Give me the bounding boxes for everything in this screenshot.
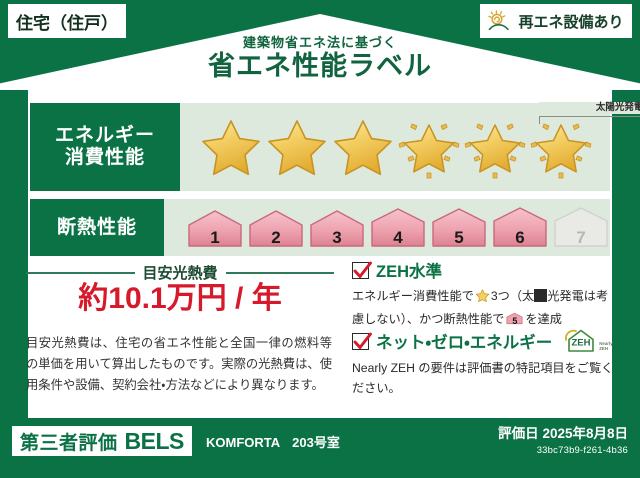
star-icon [330, 114, 396, 180]
bels-third-party-label: 第三者評価 [20, 428, 118, 455]
insulation-level-house: 6 [491, 207, 549, 249]
utility-cost-value: 約10.1万円 / 年 [26, 282, 334, 315]
insulation-level-inline-icon: 5 [506, 311, 523, 326]
sun-icon [488, 9, 514, 33]
energy-performance-label: 住宅（住戸） 再エネ設備あり 建築物省エネ法に基づく 省エネ性能ラベル [0, 0, 640, 478]
energy-caption-line1: エネルギー [55, 125, 155, 147]
bels-logo: 第三者評価 BELS [12, 426, 192, 456]
net-zero-energy-title: ネット・ゼロ・エネルギー [376, 329, 552, 353]
energy-stars-panel: 太陽光発電(自家消費)分 [180, 103, 610, 191]
zeh-badge-sub2: ZEH [599, 347, 612, 351]
header-subtitle: 建築物省エネ法に基づく [0, 36, 640, 49]
room-number: 203号室 [292, 432, 340, 451]
star-icon [264, 114, 330, 180]
insulation-level-number: 5 [430, 229, 488, 246]
insulation-level-number: 1 [186, 229, 244, 246]
star-icon-solar [528, 114, 594, 180]
zeh-standard-block: ZEH水準 エネルギー消費性能で3つ（太光発電は考慮しない）、かつ断熱性能で5を… [352, 258, 614, 330]
evaluation-date-label: 評価日 [498, 426, 539, 441]
insulation-caption-line1: 断熱性能 [57, 217, 137, 239]
svg-text:ZEH: ZEH [572, 338, 591, 349]
insulation-level-house: 1 [186, 207, 244, 249]
label-header: 建築物省エネ法に基づく 省エネ性能ラベル [0, 36, 640, 80]
zeh-badge-icon: ZEH Nearly ZEH [564, 328, 612, 354]
building-type-label: 住宅（住戸） [16, 9, 118, 34]
energy-star-rating [198, 114, 594, 180]
utility-cost-heading: 目安光熱費 [26, 262, 334, 283]
evaluation-info: 評価日 2025年8月8日 33bc73b9-f261-4b36 [498, 426, 628, 457]
insulation-level-house-inactive: 7 [552, 207, 610, 249]
label-footer: 第三者評価 BELS KOMFORTA 203号室 評価日 2025年8月8日 … [0, 418, 640, 478]
zeh-text-part3: を達成 [525, 312, 562, 326]
star-icon-solar [462, 114, 528, 180]
insulation-level-house: 5 [430, 207, 488, 249]
insulation-level-number: 4 [369, 229, 427, 246]
building-name: KOMFORTA [206, 435, 280, 450]
zeh-standard-description: エネルギー消費性能で3つ（太光発電は考慮しない）、かつ断熱性能で5を達成 [352, 287, 614, 330]
building-type-tag: 住宅（住戸） [8, 4, 126, 38]
redacted-character [534, 289, 547, 302]
evaluation-date-value: 2025年8月8日 [542, 426, 628, 441]
insulation-level-number: 2 [247, 229, 305, 246]
insulation-level-number: 7 [552, 229, 610, 246]
heading-rule-right [226, 272, 335, 274]
net-zero-energy-description: Nearly ZEH の要件は評価書の特記項目をご覧ください。 [352, 359, 614, 399]
evaluation-id: 33bc73b9-f261-4b36 [498, 444, 628, 457]
insulation-level-house: 4 [369, 207, 427, 249]
energy-performance-caption: エネルギー 消費性能 [30, 103, 180, 191]
zeh-standard-title-row: ZEH水準 [352, 258, 614, 282]
star-icon-solar [396, 114, 462, 180]
renewable-equipment-tag: 再エネ設備あり [480, 4, 632, 38]
insulation-level-house: 2 [247, 207, 305, 249]
renewable-equipment-label: 再エネ設備あり [518, 11, 623, 32]
net-zero-energy-block: ネット・ゼロ・エネルギー ZEH Nearly ZEH Nearly ZEH の… [352, 328, 614, 399]
building-identification: KOMFORTA 203号室 [206, 432, 340, 451]
insulation-level-house: 3 [308, 207, 366, 249]
insulation-level-inline-number: 5 [506, 317, 523, 326]
heading-rule-left [26, 272, 135, 274]
insulation-level-scale: 1 2 3 4 [186, 207, 610, 249]
zeh-text-part1: エネルギー消費性能で [352, 289, 474, 303]
page-title: 省エネ性能ラベル [0, 53, 640, 80]
checkbox-checked-icon [352, 333, 369, 350]
utility-cost-note: 目安光熱費は、住宅の省エネ性能と全国一律の燃料等の単価を用いて算出したものです。… [26, 333, 332, 396]
insulation-level-number: 6 [491, 229, 549, 246]
insulation-level-number: 3 [308, 229, 366, 246]
insulation-performance-caption: 断熱性能 [30, 199, 164, 256]
bels-wordmark: BELS [125, 428, 184, 455]
insulation-performance-row: 断熱性能 1 2 [30, 199, 610, 256]
energy-caption-line2: 消費性能 [65, 147, 145, 169]
zeh-star-count: 3つ（太 [491, 289, 534, 303]
insulation-levels-panel: 1 2 3 4 [164, 199, 610, 256]
star-icon-inline [475, 292, 490, 306]
utility-cost-heading-label: 目安光熱費 [143, 262, 218, 283]
star-icon [198, 114, 264, 180]
checkbox-checked-icon [352, 262, 369, 279]
evaluation-date-row: 評価日 2025年8月8日 [498, 426, 628, 442]
solar-bracket-label: 太陽光発電(自家消費)分 [539, 102, 640, 114]
net-zero-energy-title-row: ネット・ゼロ・エネルギー ZEH Nearly ZEH [352, 328, 614, 354]
energy-performance-row: エネルギー 消費性能 太陽光発電(自家消費)分 [30, 103, 610, 191]
zeh-standard-title: ZEH水準 [376, 258, 442, 282]
